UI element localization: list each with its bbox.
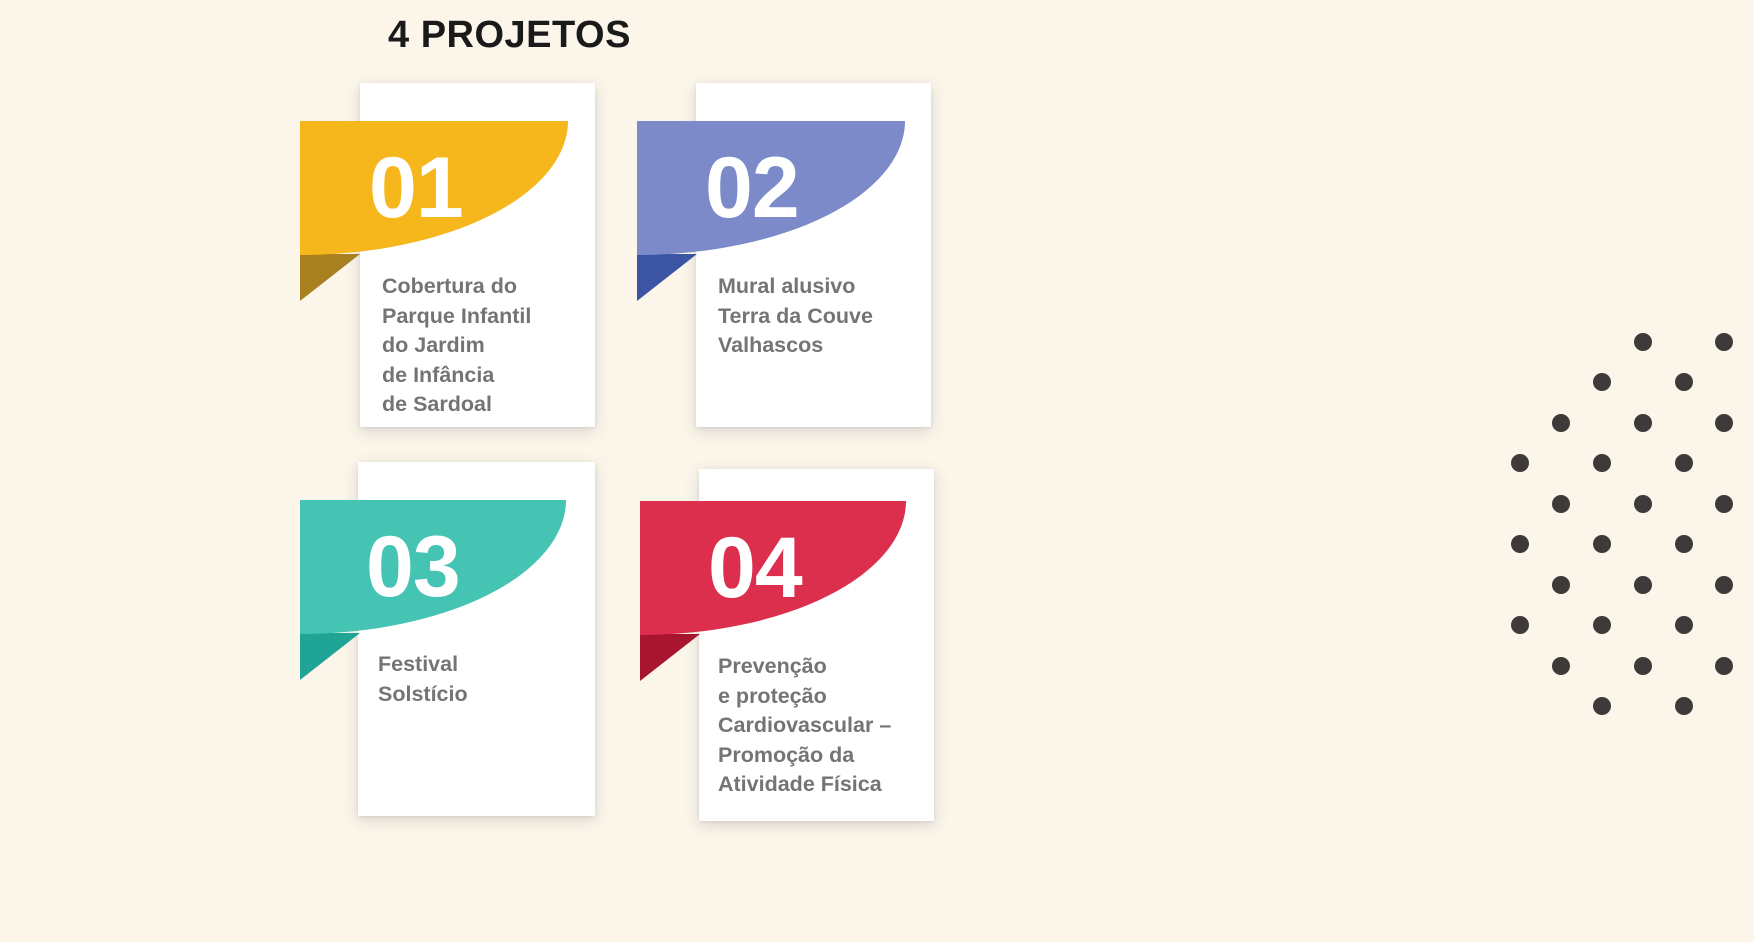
decoration-dot bbox=[1715, 495, 1733, 513]
decoration-dot bbox=[1634, 495, 1652, 513]
card-number: 01 bbox=[369, 145, 463, 231]
decoration-dot bbox=[1593, 697, 1611, 715]
decoration-dot bbox=[1715, 657, 1733, 675]
card-title: Prevenção e proteção Cardiovascular – Pr… bbox=[718, 652, 943, 800]
ribbon-fold-icon bbox=[300, 254, 360, 301]
card-title: Cobertura do Parque Infantil do Jardim d… bbox=[382, 272, 587, 420]
ribbon-fold-icon bbox=[300, 633, 360, 680]
decoration-dot bbox=[1552, 576, 1570, 594]
ribbon-fold-icon bbox=[640, 634, 700, 681]
decoration-dot bbox=[1593, 454, 1611, 472]
decoration-dot bbox=[1715, 333, 1733, 351]
decoration-dot bbox=[1511, 616, 1529, 634]
decoration-dot bbox=[1593, 373, 1611, 391]
decoration-dot bbox=[1634, 657, 1652, 675]
ribbon-fold-icon bbox=[637, 254, 697, 301]
card-number: 04 bbox=[708, 525, 802, 611]
decoration-dot bbox=[1675, 373, 1693, 391]
decoration-dot bbox=[1634, 333, 1652, 351]
decoration-dot bbox=[1675, 454, 1693, 472]
decoration-dot bbox=[1593, 535, 1611, 553]
decoration-dot bbox=[1634, 576, 1652, 594]
decoration-dot bbox=[1634, 414, 1652, 432]
card-title: Festival Solstício bbox=[378, 650, 583, 709]
decoration-dot bbox=[1552, 495, 1570, 513]
card-number: 03 bbox=[366, 524, 460, 610]
decoration-dot bbox=[1675, 616, 1693, 634]
card-title: Mural alusivo Terra da Couve Valhascos bbox=[718, 272, 928, 361]
decoration-dot bbox=[1715, 414, 1733, 432]
decoration-dot bbox=[1593, 616, 1611, 634]
page-title: 4 PROJETOS bbox=[388, 14, 631, 57]
decoration-dot bbox=[1552, 657, 1570, 675]
decoration-dot bbox=[1715, 576, 1733, 594]
decoration-dot bbox=[1552, 414, 1570, 432]
decoration-dot bbox=[1511, 535, 1529, 553]
decoration-dot bbox=[1675, 697, 1693, 715]
card-number: 02 bbox=[705, 145, 799, 231]
decoration-dot bbox=[1511, 454, 1529, 472]
decoration-dot bbox=[1675, 535, 1693, 553]
